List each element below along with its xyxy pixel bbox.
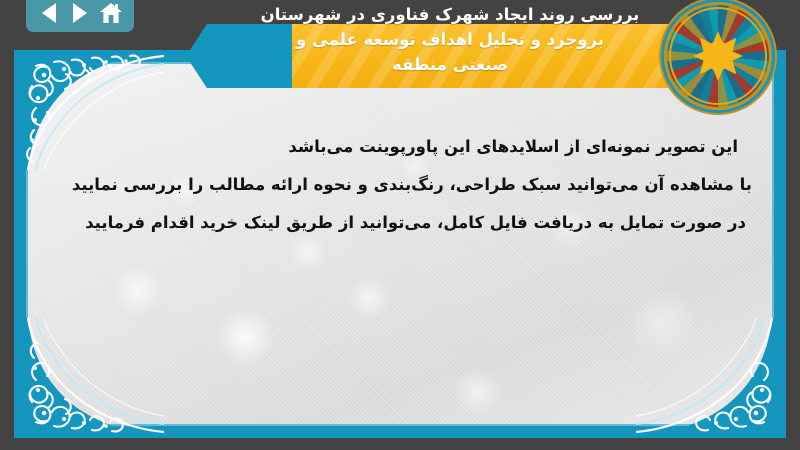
previous-slide-button[interactable]: [36, 0, 62, 26]
presentation-viewer: این تصویر نمونه‌ای از اسلایدهای این پاور…: [0, 0, 800, 450]
next-slide-button[interactable]: [67, 0, 93, 26]
slide-body-text: این تصویر نمونه‌ای از اسلایدهای این پاور…: [48, 128, 752, 242]
navigation-toolbar: [26, 0, 134, 32]
body-line-1: این تصویر نمونه‌ای از اسلایدهای این پاور…: [48, 128, 752, 166]
arabesque-ornament-bottom-left-icon: [14, 318, 164, 438]
slide-canvas: این تصویر نمونه‌ای از اسلایدهای این پاور…: [14, 50, 786, 438]
slide-frame-inner-line: [26, 62, 774, 426]
home-icon: [99, 2, 123, 24]
title-line-2: بروجرد و تحلیل اهداف توسعه علمی و: [200, 27, 700, 52]
title-line-1: بررسی روند ایجاد شهرک فناوری در شهرستان: [200, 2, 700, 27]
body-line-3: در صورت تمایل به دریافت فایل کامل، می‌تو…: [48, 204, 752, 242]
arabesque-ornament-bottom-right-icon: [636, 318, 786, 438]
body-line-2: با مشاهده آن می‌توانید سبک طراحی، رنگ‌بن…: [48, 166, 752, 204]
forward-arrow-icon: [73, 3, 87, 23]
home-button[interactable]: [98, 0, 124, 26]
slide-frame-border: [14, 50, 786, 438]
back-arrow-icon: [42, 3, 56, 23]
